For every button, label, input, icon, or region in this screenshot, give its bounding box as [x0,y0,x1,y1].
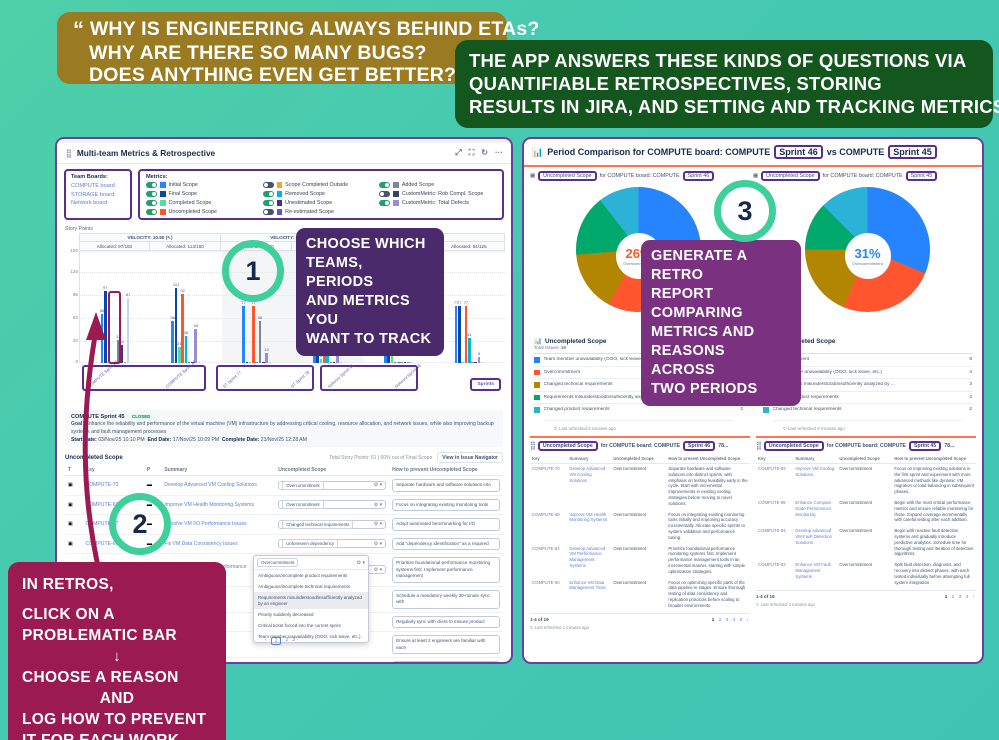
dropdown-option[interactable]: Requirements misunderstood/insufficientl… [254,592,368,609]
legend-value: 2 [740,407,743,412]
metric-color-swatch [160,209,166,215]
metric-toggle-item[interactable]: Added Scope [379,182,496,188]
chart-bar[interactable] [269,362,272,363]
toggle-switch[interactable] [146,209,157,215]
column-header[interactable]: Uncompleted Scope [837,454,892,464]
result-count: 1-4 of 16 [756,594,775,599]
complete-date-label: Complete Date: [222,437,259,443]
refreshed-text: Last refreshed 9 minutes ago [788,426,845,431]
callout3-line2: REPORT COMPARING [651,285,791,323]
pagination-page[interactable]: 3 [726,617,733,622]
chart-bar[interactable]: 45 [194,329,197,363]
chart-bar[interactable] [255,362,258,363]
metric-toggle-item[interactable]: Unestimated Scope [263,200,380,206]
metric-color-swatch [277,200,283,206]
issue-summary[interactable]: Fix VM Data Consistency Issues [161,534,275,554]
sub-header-row: ▦ Uncompleted Scope for COMPUTE board: C… [524,167,982,181]
metric-label: CustomMetric: Total Defects [402,200,469,206]
mini-pagination[interactable]: 1 2 3 4 › [945,594,976,599]
prevent-cell[interactable]: Adopt automated benchmarking for I/O [389,515,503,535]
metric-color-swatch [393,182,399,188]
reason-dropdown-selected[interactable]: Overcommitment ⚙ ▾ [254,556,368,570]
chart-bar[interactable] [407,362,410,363]
chart-bar[interactable] [330,362,333,363]
step-number: 2 [132,509,147,540]
sprint-info-card: COMPUTE Sprint 45 CLOSED Goal: Enhance t… [65,410,503,447]
pagination-page[interactable]: › [973,594,976,599]
quote-line-2: WHY ARE THERE SO MANY BUGS? [73,42,493,65]
callout3-line3: METRICS AND [651,323,791,342]
gear-icon[interactable]: ⚙ ▾ [374,521,382,527]
view-in-issue-navigator-button[interactable]: View in Issue Navigator [437,452,503,463]
page-title: Multi-team Metrics & Retrospective [77,148,215,158]
chart-bar[interactable]: 56 [259,321,262,363]
result-count: 1-4 of 19 [530,617,549,622]
column-header[interactable]: Key [756,454,793,464]
prevent-text[interactable]: Ensure at least 2 engineers are familiar… [392,635,500,654]
issue-key[interactable]: COMPUTE-88 [756,497,793,525]
pagination-page[interactable]: 2 [285,637,288,645]
chart-bar[interactable] [249,362,252,363]
metric-label: Removed Scope [285,191,325,197]
toggle-switch[interactable] [263,200,274,206]
metric-selector-left[interactable]: Uncompleted Scope [538,171,597,181]
chart-bar[interactable] [198,362,201,363]
issue-summary[interactable]: Enhance VM Data Management Tools [567,577,611,611]
dropdown-option[interactable]: Ambiguous/incomplete product requirement… [254,570,368,581]
chart-bar[interactable]: 56 [171,321,174,363]
metric-toggle-item[interactable]: Initial Scope [146,182,263,188]
sprint-goal: Goal: Enhance the reliability and perfor… [71,421,497,436]
priority-icon: ▬ [144,476,162,496]
legend-color-swatch [763,407,769,413]
issue-key[interactable]: COMPUTE-82 [756,560,793,588]
team-board-item[interactable]: STORAGE board [71,191,125,200]
green-line-3: RESULTS IN JIRA, AND SETTING AND TRACKIN… [469,95,981,118]
prevent-cell[interactable]: Regularly sync with client to ensure pro… [389,612,503,632]
pagination-page[interactable]: 1 [945,594,952,599]
reason-chip[interactable]: Changed technical requirements [282,520,353,529]
metric-label: Initial Scope [169,182,198,188]
sub-header-left: ▦ Uncompleted Scope for COMPUTE board: C… [530,171,753,181]
reason-dropdown-list[interactable]: Ambiguous/incomplete product requirement… [254,570,368,642]
legend-left-refreshed: ↻ Last refreshed 9 minutes ago [544,420,733,432]
bottom-right-mid: for COMPUTE board: COMPUTE [827,443,906,449]
reason-cell[interactable]: Overcommitment⚙ ▾ [275,495,389,515]
reason-chip[interactable]: Overcommitment [257,558,298,567]
column-header[interactable]: P [144,465,162,476]
metric-label: Final Scope [169,191,197,197]
pagination-page[interactable]: 1 [271,637,282,645]
pagination-page[interactable]: 2 [952,594,959,599]
refreshed-text: Last refreshed 2 minutes ago [535,625,589,630]
prevent-value: Prioritize foundational performance moni… [666,543,750,577]
issue-key[interactable]: COMPUTE-68 [530,509,567,543]
callout1-line4: WANT TO TRACK [306,330,434,349]
complete-date-value: 23/Nov/25 12:28 AM [261,437,307,443]
expand-icon[interactable]: ⤢ [455,148,461,158]
sprint-selector-left[interactable]: Sprint 46 [683,171,715,181]
end-date-label: End Date: [147,437,171,443]
column-header[interactable]: Key [530,454,567,464]
legend-color-swatch [534,370,540,376]
metric-color-swatch [277,209,283,215]
pagination-page[interactable]: 3 [292,637,295,645]
legend-right-refreshed: ↻ Last refreshed 9 minutes ago [773,420,962,432]
chart-bar[interactable] [333,362,336,363]
toggle-switch[interactable] [146,191,157,197]
reason-cell[interactable]: Overcommitment⚙ ▾ [275,476,389,496]
table-row[interactable]: COMPUTE-60Enhance VM Data Management Too… [530,577,750,611]
bar-value-label: 77 [464,300,468,305]
prevent-text[interactable]: Regularly sync with client to ensure pro… [392,616,500,629]
column-header[interactable]: Summary [161,465,275,476]
chart-bar[interactable]: 92 [181,294,184,363]
fullscreen-icon[interactable]: ⛶ [469,148,475,158]
legend-title-text: Uncompleted Scope [545,338,606,345]
chart-bar[interactable] [481,362,484,363]
prevent-value: Separate hardware and software solutions… [666,463,750,509]
gear-icon[interactable]: ⚙ ▾ [374,541,382,547]
mini-right-refreshed: ↻ Last refreshed 3 minutes ago [756,599,976,607]
column-header[interactable]: Summary [567,454,611,464]
metric-toggle-item[interactable]: Completed Scope [146,200,263,206]
pagination-page[interactable]: 4 [966,594,973,599]
chart-bar[interactable] [474,362,477,363]
reason-chip[interactable]: Overcommitment [282,500,323,509]
chart-bar-group[interactable]: 777777348 [434,251,505,363]
callout2-line5: AND [22,688,212,709]
issue-summary[interactable]: Improve VM Cooling Solutions [793,463,837,497]
gear-icon[interactable]: ⚙ ▾ [374,482,382,488]
pagination-page[interactable]: › [747,617,750,622]
bar-value-label: 101 [173,282,180,287]
down-arrow-icon: ↓ [22,646,212,667]
metric-toggle-item[interactable]: Final Scope [146,191,263,197]
metric-color-swatch [393,200,399,206]
chart-bar[interactable] [246,362,249,363]
chart-bar[interactable]: 36 [185,336,188,363]
metric-toggle-item[interactable]: Re-estimated Scope [263,209,380,215]
quote-line-1: WHY IS ENGINEERING ALWAYS BEHIND ETAs? [90,18,540,40]
chart-bar-group[interactable]: 5610121923645 [151,251,222,363]
dropdown-option[interactable]: Ambiguous/incomplete technical requireme… [254,581,368,592]
chevron-down-icon[interactable]: ⚙ ▾ [357,560,365,566]
open-quote-icon: “ [73,17,84,42]
bottom-left-header: ⣿ Uncompleted Scope for COMPUTE board: C… [530,441,750,451]
metric-selector-right[interactable]: Uncompleted Scope [761,171,820,181]
table-row[interactable]: COMPUTE-82Enhance VM Fault Management Sy… [756,560,976,588]
drag-handle-icon[interactable]: ⣿ [756,441,761,450]
issue-summary[interactable]: Resolve VM I/O Performance Issues [161,515,275,535]
issues-table-head-row: TKeyPSummaryUncompleted ScopeHow to prev… [65,465,503,476]
team-board-item[interactable]: Network board [71,199,125,208]
legend-color-swatch [534,382,540,388]
prevent-value: Focus on improving existing solutions in… [892,463,976,497]
chart-bar[interactable]: 77 [458,306,461,363]
metric-color-swatch [277,182,283,188]
report-title-vs: vs COMPUTE [827,147,885,157]
mini-pagination[interactable]: 1 2 3 4 5 › [712,617,750,622]
toggle-switch[interactable] [263,182,274,188]
bar-value-label: 45 [194,323,198,328]
metric-toggle-item[interactable]: Scope Completed Outside [263,182,380,188]
mini-left-footer: 1-4 of 19 1 2 3 4 5 › [530,613,750,622]
table-row[interactable]: COMPUTE-92Improve VM Cooling SolutionsOv… [756,463,976,497]
metrics-selector: Metrics: Initial ScopeScope Completed Ou… [138,169,504,220]
chart-bar[interactable]: 11 [336,355,339,363]
allocated-header-cell: Allocated: 113/150 [150,242,221,251]
chart-bar[interactable]: 77 [455,306,458,363]
chart-bar[interactable]: 77 [242,306,245,363]
table-row[interactable]: COMPUTE-64Develop Advanced VM Performanc… [530,543,750,577]
pagination-prev[interactable]: ‹ [265,637,267,645]
left-panel-header: ⣿ Multi-team Metrics & Retrospective ⤢ ⛶… [57,143,511,164]
dropdown-option[interactable]: Priority suddenly decreased [254,609,368,620]
column-header[interactable]: Uncompleted Scope [275,465,389,476]
refreshed-text: Last refreshed 3 minutes ago [761,602,815,607]
chart-bar[interactable] [410,362,413,363]
issue-key[interactable]: COMPUTE-84 [756,526,793,560]
column-header[interactable]: How to prevent Uncompleted Scope [666,454,750,464]
bar-value-label: 77 [457,300,461,305]
chart-bar[interactable]: 13 [265,353,268,363]
reason-value: Overcommitment [611,509,666,543]
bar-value-label: 97 [103,285,107,290]
chart-bar[interactable] [339,362,342,363]
green-banner: THE APP ANSWERS THESE KINDS OF QUESTIONS… [455,40,993,128]
mini-table-body: COMPUTE-92Improve VM Cooling SolutionsOv… [756,463,976,588]
column-header[interactable]: How to prevent Uncompleted Scope [892,454,976,464]
prevent-value: Focus on integrating existing monitoring… [666,509,750,543]
team-boards-selector[interactable]: Team Boards: COMPUTE board STORAGE board… [64,169,132,220]
legend-label: Changed product requirements [773,395,966,400]
drag-handle-icon[interactable]: ⣿ [66,149,71,158]
chart-bar[interactable]: 101 [175,288,178,363]
allocated-header-cell: Allocated: 84/125 [434,242,505,251]
mini-right-footer: 1-4 of 16 1 2 3 4 › [756,590,976,599]
issue-summary[interactable]: Develop Advanced VM Cooling Solutions [567,463,611,509]
prevent-text[interactable]: Adopt automated benchmarking for I/O [392,518,500,531]
chart-bar[interactable] [400,362,403,363]
step-marker-3: 3 [714,180,776,242]
step-marker-1: 1 [222,240,284,302]
reason-cell[interactable]: Unforeseen dependency⚙ ▾ [275,534,389,554]
pagination-page[interactable]: 2 [719,617,726,622]
chart-bar[interactable]: 77 [252,306,255,363]
metric-selector[interactable]: Uncompleted Scope [538,441,598,451]
metric-selector[interactable]: Uncompleted Scope [764,441,824,451]
callout1-line3: AND METRICS YOU [306,292,434,330]
sprint-a-selector[interactable]: Sprint 46 [774,145,823,159]
table-row[interactable]: COMPUTE-84Develop Advanced VM Fault Dete… [756,526,976,560]
issue-summary[interactable]: Enhance Compute Node Performance Monitor… [793,497,837,525]
prevent-text[interactable]: Narrow the focus to specific types of fa… [392,661,500,664]
column-header[interactable]: Summary [793,454,837,464]
chart-bar[interactable] [397,362,400,363]
column-header[interactable]: How to prevent Uncompleted Scope [389,465,503,476]
chart-bar[interactable]: 34 [468,338,471,363]
issue-summary[interactable]: Develop Advanced VM Cooling Solutions [161,476,275,496]
refresh-icon: ↻ [530,625,534,630]
legend-value: 5 [969,357,972,362]
legend-value: 2 [969,395,972,400]
table-pagination[interactable]: ‹ 1 2 3 [265,637,295,645]
sprint-b-selector[interactable]: Sprint 45 [888,145,937,159]
toggle-switch[interactable] [379,182,390,188]
metric-toggle-item[interactable]: CustomMetric: Rob Compl. Scope [379,191,496,197]
chart-bar[interactable] [461,362,464,363]
issue-summary[interactable]: Develop Advanced VM Performance Manageme… [567,543,611,577]
pointer-arrow-icon [60,290,130,580]
refresh-icon: ↻ [554,426,558,431]
callout-choose-teams: CHOOSE WHICH TEAMS, PERIODS AND METRICS … [296,228,444,356]
chart-bar[interactable] [262,362,265,363]
toggle-switch[interactable] [379,191,390,197]
refresh-icon[interactable]: ↻ [481,148,488,158]
chart-icon: 📊 [534,337,542,345]
issue-key[interactable]: COMPUTE-70 [530,463,567,509]
prevent-value: Begin with the most critical performance… [892,497,976,525]
drag-handle-icon[interactable]: ⣿ [530,441,535,450]
prevent-value: Focus on optimizing specific parts of th… [666,577,750,611]
metric-label: Unestimated Scope [285,200,332,206]
column-header[interactable]: Uncompleted Scope [611,454,666,464]
callout2-line2: CLICK ON A [22,604,212,625]
report-title-prefix: Period Comparison for COMPUTE board: COM… [547,147,770,157]
prevent-text[interactable]: Focus on integrating existing monitoring… [392,499,500,512]
table-row[interactable]: COMPUTE-68Improve VM Health Monitoring S… [530,509,750,543]
reason-value: Overcommitment [837,560,892,588]
table-row[interactable]: ▣COMPUTE-70▬Develop Advanced VM Cooling … [65,476,503,496]
issue-key[interactable]: COMPUTE-64 [530,543,567,577]
prevent-cell[interactable]: Prioritize foundational performance moni… [389,554,503,587]
chart-bar[interactable]: 5 [320,359,323,363]
toggle-switch[interactable] [379,200,390,206]
metric-icon: ▦ [530,173,535,179]
issue-key[interactable]: COMPUTE-60 [530,577,567,611]
issue-summary[interactable]: Develop Advanced VM Fault Detection Solu… [793,526,837,560]
prevent-cell[interactable]: Focus on integrating existing monitoring… [389,495,503,515]
reason-chip[interactable]: Overcommitment [282,481,323,490]
reason-dropdown[interactable]: Overcommitment ⚙ ▾ Ambiguous/incomplete … [253,555,369,643]
pagination-page[interactable]: 4 [733,617,740,622]
metric-toggle-item[interactable]: Uncompleted Scope [146,209,263,215]
mini-table-head-row: KeySummaryUncompleted ScopeHow to preven… [756,454,976,464]
reason-value: Overcommitment [611,463,666,509]
callout3-line4: REASONS ACROSS [651,342,791,380]
legend-label: Changed product requirements [544,407,737,412]
prevent-text[interactable]: Prioritize foundational performance moni… [392,557,500,583]
metric-label: Scope Completed Outside [285,182,348,188]
bar-value-label: 13 [264,347,268,352]
toggle-switch[interactable] [146,200,157,206]
bar-value-label: 36 [184,330,188,335]
dropdown-option[interactable]: Critical ticket forced into the current … [254,620,368,631]
prevent-text[interactable]: Separate hardware and software solutions… [392,479,500,492]
toggle-switch[interactable] [146,182,157,188]
chart-bar[interactable] [471,362,474,363]
callout1-line1: CHOOSE WHICH [306,235,434,254]
callout2-line4: CHOOSE A REASON [22,667,212,688]
bar-value-label: 34 [467,332,471,337]
metrics-grid: Initial ScopeScope Completed OutsideAdde… [146,182,496,215]
table-row[interactable]: COMPUTE-70Develop Advanced VM Cooling So… [530,463,750,509]
quote-line-3: DOES ANYTHING EVEN GET BETTER? [89,64,456,86]
table-row[interactable]: COMPUTE-88Enhance Compute Node Performan… [756,497,976,525]
legend-label: Overcommitment [773,357,966,362]
gear-icon[interactable]: ⚙ ▾ [374,567,382,573]
legend-value: 3 [969,382,972,387]
team-board-item[interactable]: COMPUTE board [71,182,125,191]
gear-icon[interactable]: ⚙ ▾ [374,502,382,508]
donut-label: Overcommitment [852,261,882,266]
issue-summary[interactable]: Enhance VM Fault Management Systems [793,560,837,588]
metric-color-swatch [393,191,399,197]
prevent-cell[interactable]: Separate hardware and software solutions… [389,476,503,496]
chart-icon: 📊 [532,147,543,158]
prevent-cell[interactable]: Narrow the focus to specific types of fa… [389,658,503,664]
pagination-page[interactable]: 5 [740,617,747,622]
prevent-cell[interactable]: Schedule a mandatory weekly 30-minute sy… [389,586,503,612]
toggle-switch[interactable] [263,209,274,215]
sprint-selector[interactable]: Sprint 45 [909,441,941,451]
reason-chip[interactable]: Unforeseen dependency [282,539,338,548]
bottom-table-right: ⣿ Uncompleted Scope for COMPUTE board: C… [756,436,976,631]
chart-bar[interactable] [394,362,397,363]
sprint-selector[interactable]: Sprint 46 [683,441,715,451]
prevent-cell[interactable]: Ensure at least 2 engineers are familiar… [389,632,503,658]
table-meta: Total Story Points: 61 | 60% out of Fina… [329,455,432,461]
config-row: Team Boards: COMPUTE board STORAGE board… [57,164,511,224]
callout2-line3: PROBLEMATIC BAR [22,625,212,646]
prevent-text[interactable]: Schedule a mandatory weekly 30-minute sy… [392,590,500,609]
chart-bar[interactable]: 8 [478,357,481,363]
metric-color-swatch [277,191,283,197]
metric-toggle-item[interactable]: Removed Scope [263,191,380,197]
issue-summary[interactable]: Improve VM Health Monitoring Systems [567,509,611,543]
sub-right-mid: for COMPUTE board: COMPUTE [823,173,903,179]
velocity-header-cell: VELOCITY: 10.50 (↖) [79,233,221,242]
reason-cell[interactable]: Changed technical requirements⚙ ▾ [275,515,389,535]
legend-label: Changed technical requirements [773,407,966,412]
prevent-text[interactable]: Add "dependency identification" as a req… [392,538,500,551]
mini-table-right: KeySummaryUncompleted ScopeHow to preven… [756,454,976,588]
more-icon[interactable]: ··· [495,148,503,158]
metric-toggle-item[interactable]: CustomMetric: Total Defects [379,200,496,206]
sprint-title: COMPUTE Sprint 45 CLOSED [71,414,497,420]
reason-value: Overcommitment [837,526,892,560]
metric-icon: ▦ [753,173,758,179]
chart-bar[interactable] [404,362,407,363]
bottom-right-header: ⣿ Uncompleted Scope for COMPUTE board: C… [756,441,976,451]
prevent-cell[interactable]: Add "dependency identification" as a req… [389,534,503,554]
sprint-goal-text: Enhance the reliability and performance … [71,421,494,435]
issue-key[interactable]: COMPUTE-92 [756,463,793,497]
pagination-page[interactable]: 3 [959,594,966,599]
quote-banner: “ WHY IS ENGINEERING ALWAYS BEHIND ETAs?… [57,12,507,84]
refreshed-text: Last refreshed 9 minutes ago [559,426,616,431]
callout3-line5: TWO PERIODS [651,380,791,399]
refresh-icon: ↻ [756,602,760,607]
prevent-value: Split fault detection, diagnosis, and re… [892,560,976,588]
metric-color-swatch [160,182,166,188]
issue-summary[interactable]: Improve VM Health Monitoring Systems [161,495,275,515]
sprint-selector-right[interactable]: Sprint 45 [906,171,938,181]
chart-bar[interactable]: 21 [178,347,181,363]
pagination-page[interactable]: 1 [712,617,719,622]
toggle-switch[interactable] [263,191,274,197]
